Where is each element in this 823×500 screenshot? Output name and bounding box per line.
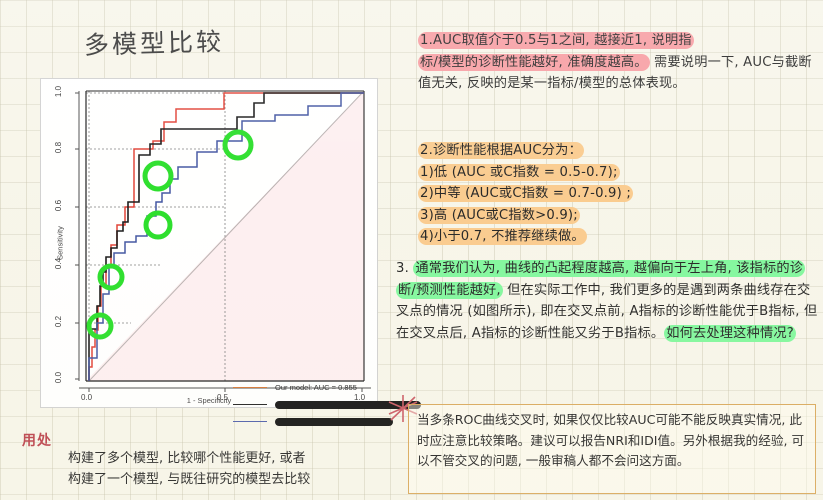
note-auc-classification: 2.诊断性能根据AUC分为： 1)低 (AUC 或C指数 = 0.5-0.7);…	[418, 140, 818, 248]
note2-item-2: 2)中等 (AUC或C指数 = 0.7-0.9) ;	[418, 185, 633, 202]
roc-chart: 1.0 0.8 0.6 0.4 0.2 0.0 0.0 0.5 1.0 Sens…	[40, 78, 378, 408]
legend-swatch-redacted-2	[233, 421, 267, 422]
plot-area: 1.0 0.8 0.6 0.4 0.2 0.0 0.0 0.5 1.0 Sens…	[41, 79, 377, 407]
legend-label-redacted-2	[275, 418, 393, 426]
note3-segment-4: 如何去处理这种情况?	[664, 325, 796, 342]
note2-item-3: 3)高 (AUC或C指数>0.9);	[418, 207, 580, 224]
note1-segment-2: 标/模型的诊断性能越好, 准确度越高。	[418, 54, 650, 71]
y-tick-0.6: 0.6	[54, 200, 63, 211]
note-boxed-recommendation: 当多条ROC曲线交叉时, 如果仅仅比较AUC可能不能反映真实情况, 此时应注意比…	[408, 404, 816, 494]
note2-item-1: 1)低 (AUC 或C指数 = 0.5-0.7);	[418, 164, 620, 181]
y-axis-label: Sensitivity	[55, 226, 64, 260]
note-curve-crossing: 3. 通常我们认为, 曲线的凸起程度越高, 越偏向于左上角, 该指标的诊断/预测…	[396, 258, 820, 344]
usecase-text: 构建了多个模型, 比较哪个性能更好, 或者 构建了一个模型, 与既往研究的模型去…	[68, 448, 398, 490]
notebook-page: 多模型比较	[0, 0, 823, 500]
usecase-label: 用处	[22, 430, 52, 450]
legend-swatch-our-model	[233, 387, 267, 388]
usecase-line-2: 构建了一个模型, 与既往研究的模型去比较	[68, 469, 398, 490]
y-tick-0.8: 0.8	[54, 142, 63, 153]
usecase-line-1: 构建了多个模型, 比较哪个性能更好, 或者	[68, 448, 398, 469]
roc-plot-svg	[41, 79, 379, 409]
note2-heading: 2.诊断性能根据AUC分为：	[418, 142, 584, 159]
legend-swatch-redacted-1	[233, 404, 267, 405]
y-tick-0.0: 0.0	[54, 372, 63, 383]
note2-item-4: 4)小于0.7, 不推荐继续做。	[418, 228, 587, 245]
y-tick-1.0: 1.0	[54, 86, 63, 97]
note-auc-range: 1.AUC取值介于0.5与1之间, 越接近1, 说明指 标/模型的诊断性能越好,…	[418, 30, 818, 95]
note1-segment-1: 1.AUC取值介于0.5与1之间, 越接近1, 说明指	[418, 32, 694, 49]
legend-label-our-model: Our model: AUC = 0.855	[275, 383, 357, 392]
page-title: 多模型比较	[84, 22, 225, 62]
y-tick-0.2: 0.2	[54, 316, 63, 327]
note3-segment-1: 3.	[396, 261, 413, 276]
